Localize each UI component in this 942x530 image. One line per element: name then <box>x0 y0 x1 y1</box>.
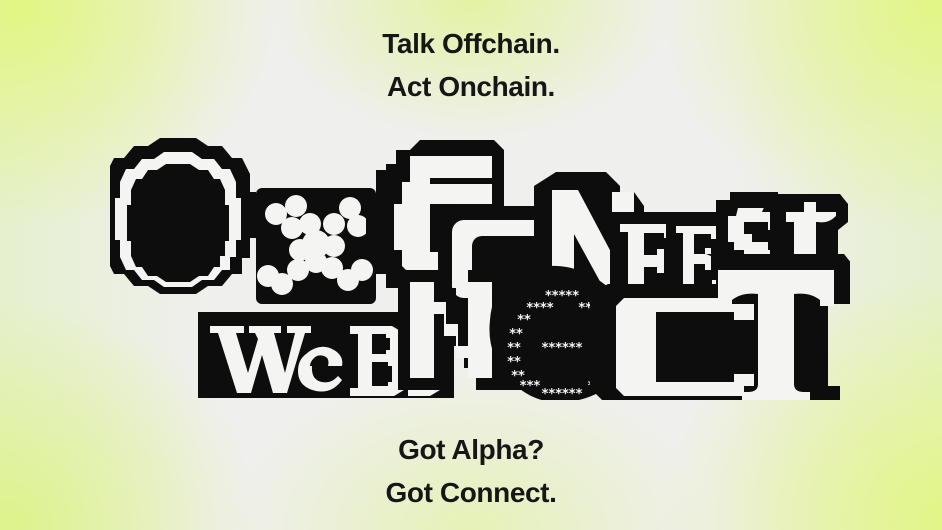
tagline-top-line-2: Act Onchain. <box>0 65 942 108</box>
tagline-bottom-line-2: Got Connect. <box>0 471 942 514</box>
svg-text:**: ** <box>517 313 531 328</box>
tagline-top-line-1: Talk Offchain. <box>0 22 942 65</box>
logo-artwork: ***** **** **** ** ** ** * ** ****** ** … <box>110 128 850 400</box>
svg-text:**: ** <box>507 355 521 370</box>
svg-text:******: ****** <box>542 387 583 400</box>
svg-text:**: ** <box>509 327 523 342</box>
svg-text:***: *** <box>520 379 541 394</box>
logo-glyph-x <box>256 188 376 304</box>
tagline-bottom: Got Alpha? Got Connect. <box>0 428 942 514</box>
svg-text:******: ****** <box>542 341 583 356</box>
logo-glyph-zero <box>110 138 256 294</box>
tagline-top: Talk Offchain. Act Onchain. <box>0 22 942 108</box>
poster-canvas: Talk Offchain. Act Onchain. <box>0 0 942 530</box>
tagline-bottom-line-1: Got Alpha? <box>0 428 942 471</box>
event-logo: ***** **** **** ** ** ** * ** ****** ** … <box>110 128 850 400</box>
svg-text:**: ** <box>507 341 521 356</box>
